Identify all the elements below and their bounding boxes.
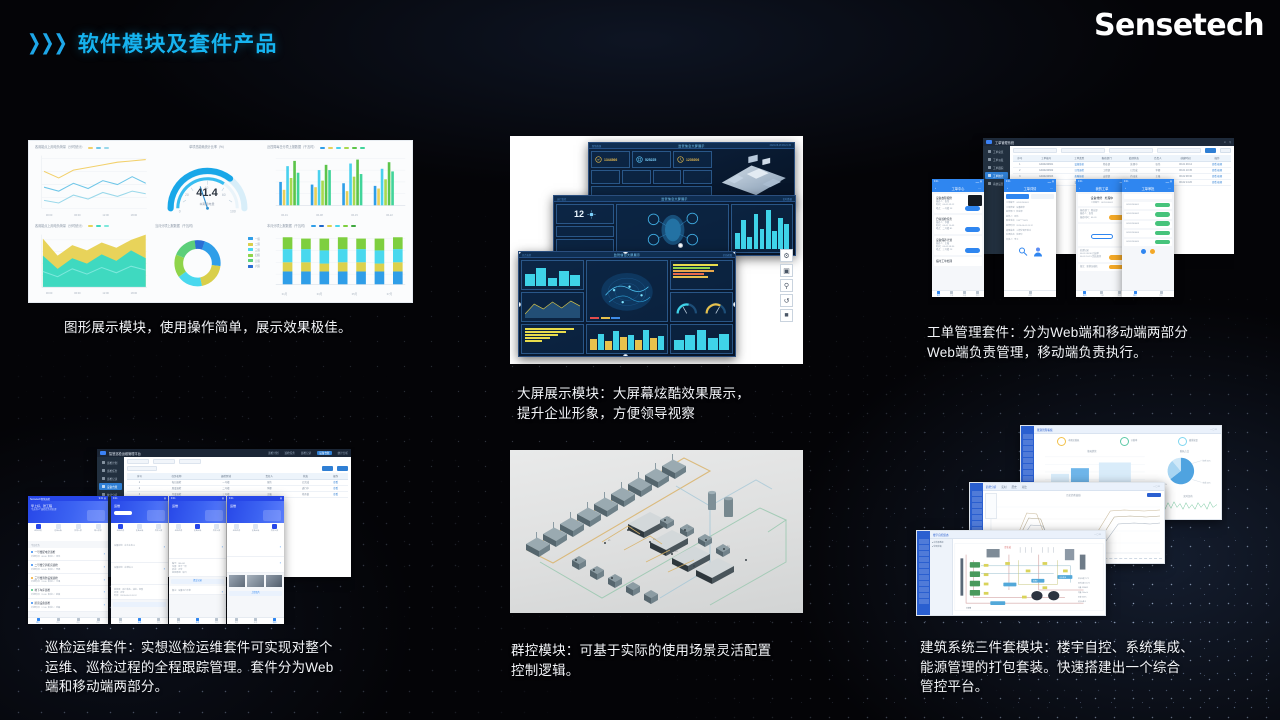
bms2-point-list[interactable]: [985, 493, 997, 519]
hero-illustration: [147, 510, 165, 521]
filter-field-2[interactable]: [1061, 148, 1105, 153]
page-title-text: 软件模块及套件产品: [78, 28, 278, 58]
svg-text:冷水机组: 冷水机组: [1059, 576, 1066, 579]
sidebar-item-1[interactable]: 巡检任务: [99, 467, 122, 474]
chevron-right-icon: ›: [104, 577, 105, 582]
bms2-export-button[interactable]: [1147, 493, 1161, 497]
action-button[interactable]: [965, 227, 980, 232]
filter-select[interactable]: [127, 466, 157, 471]
hvac-isometric-diagram: V1V2V3 V4P1P2 P3P4: [510, 450, 803, 613]
caption-bi-dashboard: 图形展示模块，使用操作简单，展示效果极佳。: [64, 318, 352, 338]
sidebar-item-3[interactable]: 设备台账: [99, 483, 122, 490]
bi-panel-line-legend: [88, 147, 109, 149]
svg-text:运行台数 3: 运行台数 3: [1078, 600, 1086, 603]
topmenu-0[interactable]: 巡检计划: [268, 451, 278, 455]
tab-home[interactable]: 首页: [111, 618, 130, 624]
tab-device-ledger[interactable]: 设备台账: [246, 523, 265, 533]
brand-logo: Sensetech: [1094, 8, 1264, 43]
bi-panel-stacked-bar: 本月分项上报数据（千瓦时）: [264, 223, 409, 300]
led-3d-model: [714, 151, 792, 201]
image-group-control-topology[interactable]: V1V2V3 V4P1P2 P3P4: [510, 450, 803, 613]
led-c-bars2: [586, 324, 668, 354]
wo-phone-2-illustration: [1006, 246, 1054, 258]
kpi-saving-rate: 节能率: [1120, 437, 1138, 446]
insp-phone-2-tabbar[interactable]: 首页 任务 我的: [111, 617, 168, 624]
svg-text:0: 0: [179, 209, 181, 213]
bi-line-xaxis: 00:0006:0012:0018:00: [35, 214, 148, 221]
image-work-order-suite[interactable]: 工单管理系统 ☉⚲ 工单总览 工单派发 工单跟踪 工单统计 系统设置: [928, 133, 1234, 305]
svg-text:照明 32%: 照明 32%: [1202, 459, 1210, 463]
led-c-bars3: [670, 324, 733, 354]
wo-phone-1-badge: [968, 195, 982, 206]
led-c-bars1: [521, 260, 584, 290]
hero-illustration: [87, 510, 105, 521]
resize-handle[interactable]: [678, 243, 683, 248]
bms2-tab-2[interactable]: 历史: [1012, 485, 1017, 489]
list-item[interactable]: GD20240601: [1124, 202, 1172, 209]
app-logo-icon: [100, 451, 106, 456]
kpi-total-energy: 本期总能耗: [1057, 437, 1079, 446]
led-kpi-1: 1344566: [591, 151, 630, 168]
photo-gallery[interactable]: [227, 573, 284, 589]
user-icon: ☉: [1224, 141, 1226, 144]
tab-task[interactable]: 任务: [188, 618, 207, 624]
svg-text:回水温度 12.4℃: 回水温度 12.4℃: [1078, 582, 1090, 585]
insp-phone-1-tabbar[interactable]: 首页 任务 消息 我的: [28, 617, 108, 624]
svg-text:冷却塔: 冷却塔: [966, 607, 971, 610]
tab-me[interactable]: 我的: [971, 291, 984, 297]
more-icon: ⋯: [978, 186, 981, 190]
insp-web-title: 智慧巡检运维管理平台: [109, 451, 141, 456]
bi-area-plot: [35, 232, 148, 293]
image-bi-dashboard[interactable]: 各用能点上用电负荷量（分时统计）: [28, 140, 413, 303]
status-badge: [1155, 212, 1170, 217]
list-item[interactable]: 一号楼配电室巡检计划时间：08:00 责任人：张伟›: [28, 548, 108, 561]
led-c-funnel: [521, 324, 584, 354]
list-item[interactable]: 编号：SB-001位置：地下一层状态：正常巡检周期：每日: [169, 559, 226, 577]
led-a-left: 智慧能源: [592, 144, 601, 148]
bi-panel-line-title: 各用能点上用电负荷量（分时统计）: [35, 146, 84, 149]
bi-gauge-plot: 02040 60100: [155, 155, 260, 217]
sidebar-item-0[interactable]: 巡检计划: [99, 459, 122, 466]
tab-home[interactable]: 首页: [932, 291, 945, 297]
tab-me[interactable]: 我的: [1148, 291, 1174, 297]
rotate-icon[interactable]: ↺: [780, 294, 793, 307]
kpi-carbon: 碳排放量: [1178, 437, 1198, 446]
led-b-left: 运行监控: [557, 197, 566, 201]
query-button[interactable]: [322, 466, 333, 471]
bi-stacked-plot: [267, 232, 407, 293]
svg-text:冷量 1280kW: 冷量 1280kW: [1078, 586, 1088, 589]
bi-donut-legend: 一级 二级 三级 四级 五级 六级: [248, 237, 260, 269]
svg-text:板换2: 板换2: [1033, 580, 1037, 583]
list-item[interactable]: GD20240605: [1124, 239, 1172, 246]
status-badge: [1155, 231, 1170, 236]
resize-handle-bc[interactable]: [623, 354, 628, 357]
list-item[interactable]: 报修部门：物业部报修人：张伟报修时间：06-01: [1078, 208, 1126, 222]
bi-panel-grouped-bar: 近四周每日分项上报数据（千瓦时）: [264, 144, 409, 221]
tab-task[interactable]: 任务: [246, 618, 265, 624]
filter-field-4[interactable]: [1157, 148, 1201, 153]
hero-illustration: [263, 510, 281, 521]
action-button[interactable]: [965, 248, 980, 253]
list-item[interactable]: 二号楼空调机房巡检计划时间：10:00 责任人：李娜›: [28, 561, 108, 574]
chevron-right-icon: ›: [164, 566, 165, 571]
tab-home[interactable]: 首页: [1122, 291, 1148, 297]
crop-icon[interactable]: ▣: [780, 264, 793, 277]
status-badge: [1155, 203, 1170, 208]
bi-panel-area: 各用能点上用电负荷量（分时统计）: [32, 223, 150, 300]
list-item[interactable]: 地下车库巡检计划时间：15:00 责任人：赵敏›: [28, 586, 108, 599]
sidebar-item-3[interactable]: 工单统计: [985, 172, 1008, 179]
tab-task[interactable]: 任务: [48, 618, 68, 624]
led-screen-monitoring: 运行监控 监管信息大屏展示 实时数据 12: [553, 195, 796, 256]
tab-process-log[interactable]: [1031, 194, 1054, 199]
insp-table: 序号任务名称 巡检区域责任人 状态操作 1每日巡检一号楼张伟已完成查看 2周度巡…: [127, 473, 348, 498]
led-a-title: 监管信息大屏展示: [678, 144, 704, 148]
bi-panel-gauge: 单项总能耗统计比率（%） 02040: [152, 144, 262, 221]
tab-exception-report[interactable]: 异常上报: [68, 523, 88, 533]
back-icon: ‹: [1007, 186, 1008, 190]
led-c-right: 全局视图: [723, 253, 732, 257]
page-dot-2[interactable]: [1150, 249, 1155, 254]
led-c-hbars: [670, 260, 733, 290]
led-kpi-2: 525225: [632, 151, 671, 168]
tab-order[interactable]: 工单: [945, 291, 958, 297]
bi-grouped-xaxis: 06-0106-0806-1506-22: [267, 214, 407, 221]
list-item[interactable]: 设备保养计划 报修人：王强时间：06-02 08:30地点：三号楼 2F: [934, 236, 982, 255]
list-item[interactable]: ›: [169, 541, 226, 559]
back-icon: ‹: [1125, 186, 1126, 190]
hero-illustration: [205, 510, 223, 521]
submit-button[interactable]: 提交记录: [171, 579, 224, 584]
filter-tab-2[interactable]: [153, 459, 175, 464]
bms1-kpis: 本期总能耗 节能率 碳排放量: [1037, 437, 1218, 446]
hero-chip: [114, 511, 132, 515]
resize-handle-mr[interactable]: [733, 302, 736, 307]
wo-web-title: 工单管理系统: [995, 140, 1014, 145]
sidebar-item-0[interactable]: 工单总览: [985, 148, 1008, 155]
tab-inspection-task[interactable]: 巡检任务: [28, 523, 48, 533]
more-icon: ⋯: [1168, 186, 1171, 190]
svg-text:V1: V1: [608, 540, 611, 542]
insp-phone-1: Sensetech智慧巡检9:41 ▤ 早上好，张工程 今天有5个巡检任务待处理…: [28, 496, 108, 624]
insp-phone-3: 9:41▤ 运维 巡检任务 设备台账 异常上报 › 编号：SB-001位置：地下…: [169, 496, 226, 624]
image-led-bigscreen[interactable]: 智慧能源 监管信息大屏展示 2024-06-18 09:21:30 134456…: [510, 136, 803, 364]
chevron-right-icon: ›: [222, 589, 223, 594]
insp-phone-4-tabbar[interactable]: 首页 任务 我的: [227, 617, 284, 624]
sidebar-item-2[interactable]: 工单跟踪: [985, 164, 1008, 171]
led-weather: 12: [556, 204, 614, 224]
svg-text:100: 100: [230, 209, 236, 213]
led-c-area: [521, 292, 584, 322]
search-input[interactable]: [1124, 194, 1172, 199]
tab-me[interactable]: 我的: [88, 618, 108, 624]
more-icon: ⋯: [1050, 186, 1053, 190]
image-inspection-suite[interactable]: 智慧巡检运维管理平台 巡检计划 巡检任务 巡检记录 设备台账 统计分析 巡检计划…: [25, 447, 355, 625]
svg-text:供水温度 7.2℃: 供水温度 7.2℃: [1078, 577, 1089, 580]
carbon-ring-icon: [1178, 437, 1187, 446]
chevron-right-icon: ›: [222, 544, 223, 549]
bms3-sidebar[interactable]: [917, 531, 930, 615]
tab-msg[interactable]: 消息: [958, 291, 971, 297]
tab-order[interactable]: 工单: [1093, 291, 1110, 297]
list-item[interactable]: GD20240604: [1124, 230, 1172, 237]
led-bar-chart: [731, 204, 793, 253]
resize-handle-tr[interactable]: [733, 251, 736, 254]
list-item[interactable]: GD20240603: [1124, 221, 1172, 228]
wo-phone-3: 9:41▁▁ ▤ ‹我的工单⋯ 设备维修 处理中 工单编号：GD20240601…: [1076, 179, 1128, 297]
svg-text:流量 210m³/h: 流量 210m³/h: [1078, 591, 1088, 594]
led-3d-globe: [616, 204, 729, 253]
tab-me[interactable]: 我的: [149, 618, 168, 624]
led-screen-analytics: 综合态势 监管信息大屏展示 全局视图: [518, 251, 736, 357]
insp-phone-4: 9:41▤ 运维 巡检任务 设备台账 异常上报 › › 上传照片: [227, 496, 284, 624]
bi-panel-stacked-legend: [311, 225, 356, 227]
search-button[interactable]: [1205, 148, 1216, 153]
topmenu-4[interactable]: 统计分析: [338, 451, 348, 455]
filter-field-1[interactable]: [1013, 148, 1057, 153]
insp-phone-3-tabbar[interactable]: 首页 任务 我的: [169, 617, 226, 624]
bms2-title: 趋势分析: [986, 485, 996, 489]
list-item[interactable]: 处理记录06-01 09:30 已接单06-01 10:15 到达现场: [1078, 248, 1126, 262]
tab-device-ledger[interactable]: 设备台账: [130, 523, 149, 533]
led-b-title: 监管信息大屏展示: [661, 197, 687, 201]
led-c-gauges: [670, 292, 733, 322]
list-item[interactable]: 屋顶设备巡检计划时间：17:00 责任人：孙磊›: [28, 599, 108, 612]
filter-tab-3[interactable]: [179, 459, 201, 464]
led-c-left: 综合态势: [522, 253, 531, 257]
bi-panel-gauge-title: 单项总能耗统计比率（%）: [152, 144, 262, 149]
led-c-map: [586, 260, 668, 322]
wo-phone-1-tabbar[interactable]: 首页 工单 消息 我的: [932, 290, 984, 297]
settings-icon[interactable]: ⚙: [780, 249, 793, 262]
bi-panel-donut-title: 当月分项上报数据（千瓦时）: [152, 223, 262, 228]
bms3-title: 楼宇自控组态: [933, 533, 949, 537]
tab-task[interactable]: 任务: [130, 618, 149, 624]
svg-text:P4: P4: [727, 546, 730, 548]
tab-stats-report[interactable]: 统计报表: [88, 523, 108, 533]
energy-ring-icon: [1057, 437, 1066, 446]
list-item[interactable]: 巡检项：运行状态、油位、温度记录：正常时间：2024-06-01 09:12: [111, 585, 168, 600]
list-item[interactable]: 日常巡检任务 报修人：李娜时间：06-01 10:45地点：二号楼 B1: [934, 215, 982, 234]
led-kpi-3: 1239206: [673, 151, 712, 168]
bi-line-plot: [35, 153, 148, 214]
wo-phone-1: 9:41▁▁ ▤ ‹工单中心⋯ 设备故障报修 报修人：张伟时间：06-01 09…: [932, 179, 984, 297]
tab-home[interactable]: 首页: [227, 618, 246, 624]
tab-exception-report[interactable]: 异常上报: [149, 523, 168, 533]
wo-phone-2: 9:41▁▁ ▤ ‹工单详情⋯ 工单编号：GD20240601工单类型：设备维修…: [1004, 179, 1056, 297]
app-logo-icon: [986, 140, 992, 145]
topmenu-1[interactable]: 巡检任务: [285, 451, 295, 455]
window-controls[interactable]: ─ ◻ ✕: [1210, 428, 1217, 431]
status-badge: [1155, 240, 1170, 245]
bms3-tree[interactable]: ▸ 冷热源系统 ▸ 空调末端: [930, 539, 953, 615]
chevron-right-icon: ❯❯❯: [27, 33, 66, 53]
wo-filter-row[interactable]: [1013, 148, 1231, 153]
tab-device-ledger[interactable]: 设备台账: [188, 523, 207, 533]
chevron-right-icon: ›: [104, 602, 105, 607]
topmenu-2[interactable]: 巡检记录: [301, 451, 311, 455]
chevron-right-icon: ›: [104, 564, 105, 569]
insp-phone-2-tabs[interactable]: 巡检任务 设备台账 异常上报: [111, 523, 168, 533]
caption-work-order: 工单管理套件：分为Web端和移动端两部分 Web端负责管理，移动端负责执行。: [927, 323, 1188, 362]
page-dot-1[interactable]: [1141, 249, 1146, 254]
bi-panel-grouped-title: 近四周每日分项上报数据（千瓦时）: [267, 146, 316, 149]
led-a-right: 2024-06-18 09:21:30: [770, 145, 791, 147]
bi-area-xaxis: 00:0006:0012:0018:00: [35, 292, 148, 299]
layers-icon[interactable]: ■: [780, 309, 793, 322]
bms1-title: 能源管理看板: [1037, 428, 1053, 432]
add-button[interactable]: [337, 466, 348, 471]
bi-grouped-plot: [267, 153, 407, 214]
led-b-right: 实时数据: [783, 197, 792, 201]
bi-gauge-value: 41.4: [152, 187, 262, 199]
caption-group-control: 群控模块：可基于实际的使用场景灵活配置 控制逻辑。: [511, 641, 771, 680]
leaf-ring-icon: [1120, 437, 1129, 446]
sun-icon: [587, 210, 596, 219]
chevron-right-icon: ›: [104, 551, 105, 556]
insp-phone-1-tabs[interactable]: 巡检任务 设备台账 异常上报 统计报表: [28, 523, 108, 533]
svg-text:板换1: 板换1: [1005, 586, 1009, 589]
sidebar-item-1[interactable]: 工单派发: [985, 156, 1008, 163]
svg-text:空调 45%: 空调 45%: [1202, 480, 1210, 484]
bi-donut-plot: [155, 234, 240, 293]
list-item[interactable]: ›: [227, 541, 284, 557]
bi-panel-donut: 当月分项上报数据（千瓦时） 一级: [152, 223, 262, 300]
tab-me[interactable]: 我的: [207, 618, 226, 624]
svg-text:V4: V4: [675, 551, 678, 553]
bi-panel-area-legend: [88, 225, 109, 227]
chevron-right-icon: ›: [280, 560, 281, 565]
bms1-realtime-load: 实时负荷: [1159, 494, 1217, 516]
chevron-right-icon: ›: [280, 544, 281, 549]
bell-icon: ⚲: [1229, 141, 1231, 144]
back-icon: ‹: [935, 186, 936, 190]
tab-exception-report[interactable]: 异常上报: [207, 523, 226, 533]
accept-button[interactable]: [1091, 234, 1113, 239]
slide-root: ❯❯❯ 软件模块及套件产品 Sensetech 各用能点上用电负荷量（分时统计）: [0, 0, 1280, 720]
zoom-icon[interactable]: ⚲: [780, 279, 793, 292]
filter-tab-1[interactable]: [127, 459, 149, 464]
topmenu-3[interactable]: 设备台账: [317, 451, 331, 455]
tab-me[interactable]: 我的: [265, 618, 284, 624]
list-item[interactable]: 备注：更换压缩机: [1078, 264, 1126, 271]
window-controls[interactable]: ─ ◻ ✕: [1094, 533, 1101, 536]
bi-gauge-label: 本期用电量: [152, 202, 262, 206]
bi-stacked-xaxis: 01月03月05月07月: [267, 292, 407, 299]
bi-panel-stacked-title: 本月分项上报数据（千瓦时）: [267, 225, 307, 228]
svg-text:压差 65kPa: 压差 65kPa: [1078, 596, 1087, 599]
list-item[interactable]: ›: [227, 557, 284, 573]
list-item[interactable]: 三号楼消防设施巡检计划时间：13:00 责任人：王强›: [28, 574, 108, 587]
bi-panel-area-title: 各用能点上用电负荷量（分时统计）: [35, 225, 84, 228]
wo-phone-4-tabbar[interactable]: 首页 我的: [1122, 290, 1174, 297]
list-item[interactable]: 设备名称：冷水主机#1›: [111, 541, 168, 563]
image-building-triple[interactable]: 能源管理看板 ─ ◻ ✕ 本期总能耗 节能率 碳排放量 能耗趋势: [907, 420, 1227, 620]
tab-inspection-task[interactable]: 巡检任务: [111, 523, 130, 533]
upload-button[interactable]: 上传照片: [229, 591, 282, 596]
tab-exception-report[interactable]: 异常上报: [265, 523, 284, 533]
tab-home[interactable]: 首页: [28, 618, 48, 624]
status-badge: [1155, 221, 1170, 226]
list-item[interactable]: 设备名称：冷却塔#2›: [111, 563, 168, 585]
tab-home[interactable]: 首页: [169, 618, 188, 624]
bi-panel-grouped-legend: [320, 147, 365, 149]
action-button[interactable]: [965, 206, 980, 211]
list-item[interactable]: 临时工单处理: [934, 257, 982, 266]
caption-led-bigscreen: 大屏展示模块：大屏幕炫酷效果展示， 提升企业形象，方便领导视察: [517, 384, 750, 423]
greeting: 早上好，张工程: [31, 504, 105, 508]
list-item[interactable]: 备注：设备运行平稳›: [169, 586, 226, 595]
caption-building-triple: 建筑系统三件套模块：楼宇自控、系统集成、 能源管理的打包套装。快速搭建出一个综合…: [920, 638, 1194, 697]
insp-phone-3-tabs[interactable]: 巡检任务 设备台账 异常上报: [169, 523, 226, 533]
tab-inspection-task[interactable]: 巡检任务: [169, 523, 188, 533]
tab-msg[interactable]: 消息: [68, 618, 88, 624]
reset-button[interactable]: [1220, 148, 1231, 153]
back-icon: ‹: [1079, 186, 1080, 190]
tab-basic-info[interactable]: [1006, 194, 1029, 199]
tab-home[interactable]: 首页: [1076, 291, 1093, 297]
insp-phone-4-tabs[interactable]: 巡检任务 设备台账 异常上报: [227, 523, 284, 533]
list-item[interactable]: GD20240602: [1124, 211, 1172, 218]
chevron-right-icon: ›: [104, 589, 105, 594]
tab-inspection-task[interactable]: 巡检任务: [227, 523, 246, 533]
wo-phone-2-tabbar[interactable]: 返回: [1004, 290, 1056, 297]
filter-field-3[interactable]: [1109, 148, 1153, 153]
bms2-tab-1[interactable]: 实时: [1001, 485, 1006, 489]
sidebar-item-2[interactable]: 巡检记录: [99, 475, 122, 482]
caption-inspection: 巡检运维套件：实想巡检运维套件可实现对整个 运维、巡检过程的全程跟踪管理。套件分…: [45, 638, 333, 697]
tab-device-ledger[interactable]: 设备台账: [48, 523, 68, 533]
chevron-right-icon: ›: [164, 544, 165, 549]
bms2-tab-3[interactable]: 对比: [1022, 485, 1027, 489]
page-title: ❯❯❯ 软件模块及套件产品: [27, 28, 278, 58]
bms-window-scada: 楼宇自控组态 ─ ◻ ✕ ▸ 冷热源系统 ▸ 空调末端: [916, 530, 1106, 616]
tab-back[interactable]: 返回: [1004, 291, 1056, 297]
bms3-schematic: 供水温度 7.2℃回水温度 12.4℃ 冷量 1280kW流量 210m³/h …: [953, 539, 1105, 615]
insp-phone-2: 9:41▤ 运维 巡检任务 设备台账 异常上报 设备名称：冷水主机#1› 设备名…: [111, 496, 168, 624]
submit-button[interactable]: [113, 602, 166, 607]
svg-text:冷冻站: 冷冻站: [1004, 545, 1011, 549]
wo-phone-4: 9:41▁▁ ▤ ‹工单审批⋯ GD20240601 GD20240602 GD…: [1122, 179, 1174, 297]
window-controls[interactable]: ─ ◻ ✕: [1153, 485, 1160, 488]
bi-panel-line: 各用能点上用电负荷量（分时统计）: [32, 144, 150, 221]
wo-phone-3-tabbar[interactable]: 首页 工单 我的: [1076, 290, 1128, 297]
